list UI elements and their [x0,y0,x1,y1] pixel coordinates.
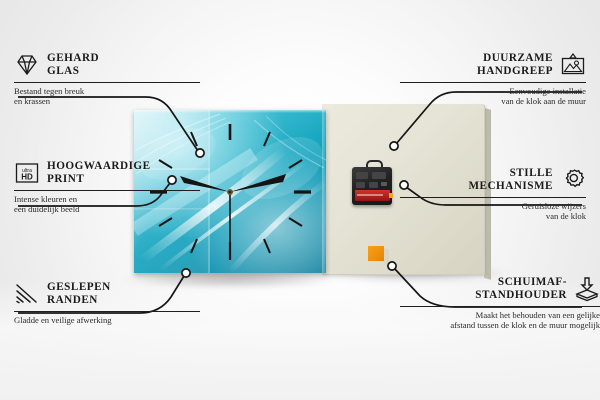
feature-title-line1: STILLE [510,167,553,179]
movement-slot [356,172,368,179]
feature-sub-line1: Geruisloze wijzers [522,201,586,211]
movement-slot [372,172,386,179]
feature-sub-line1: Eenvoudige installatie [509,86,586,96]
feature-title-line2: RANDEN [47,294,98,306]
feature-geslepen-randen: GESLEPEN RANDEN Gladde en veilige afwerk… [14,281,200,325]
feature-sub-line2: van de klok [546,211,586,221]
picture-frame-icon [560,52,586,78]
feature-title-line1: GEHARD [47,52,99,64]
divider [14,82,200,83]
feature-title-line2: MECHANISME [468,180,553,192]
feature-title-line1: DUURZAME [483,52,553,64]
feature-sub-line1: Intense kleuren en [14,194,77,204]
feature-title-line2: HANDGREEP [477,65,553,77]
feature-sub-line1: Bestand tegen breuk [14,86,84,96]
glass-top-highlight [134,110,326,113]
divider [14,311,200,312]
feature-sub-line1: Maakt het behouden van een gelijke [476,310,600,320]
divider [400,82,586,83]
feature-title-line2: PRINT [47,173,84,185]
foam-spacer-icon [574,276,600,302]
divider [400,306,600,307]
feature-sub-line2: van de klok aan de muur [501,96,586,106]
feature-title-line2: STANDHOUDER [475,289,567,301]
foam-spacer-pad [368,246,384,261]
feature-sub-line2: afstand tussen de klok en de muur mogeli… [450,320,600,330]
feature-sub-line1: Gladde en veilige afwerking [14,315,112,325]
glass-right-highlight [322,110,326,273]
feature-schuimaf-standhouder: SCHUIMAF- STANDHOUDER Maakt het behouden… [400,276,600,331]
ultra-hd-icon: ultra HD [14,160,40,186]
feature-title-line1: GESLEPEN [47,281,111,293]
diamond-icon [14,52,40,78]
feature-title-line2: GLAS [47,65,79,77]
battery-label-band [357,194,383,196]
divider [400,197,586,198]
gear-icon [560,167,586,193]
infographic-canvas: GEHARD GLAS Bestand tegen breuk en krass… [0,0,600,400]
beveled-edges-icon [14,281,40,307]
movement-slot [356,182,365,188]
feature-stille-mechanisme: STILLE MECHANISME Geruisloze wijzers van… [400,167,586,222]
feature-sub-line2: een duidelijk beeld [14,204,79,214]
feature-title-line1: HOOGWAARDIGE [47,160,151,172]
divider [14,190,200,191]
svg-text:HD: HD [21,173,33,182]
feature-duurzame-handgreep: DUURZAME HANDGREEP Eenvoudige installati… [400,52,586,107]
feature-gehard-glas: GEHARD GLAS Bestand tegen breuk en krass… [14,52,200,107]
feature-hoogwaardige-print: ultra HD HOOGWAARDIGE PRINT Intense kleu… [14,160,200,215]
movement-slot [369,182,378,188]
feature-sub-line2: en krassen [14,96,50,106]
feature-title-line1: SCHUIMAF- [498,276,567,288]
foam-spacer-side [384,248,389,264]
movement-slot [381,182,387,186]
